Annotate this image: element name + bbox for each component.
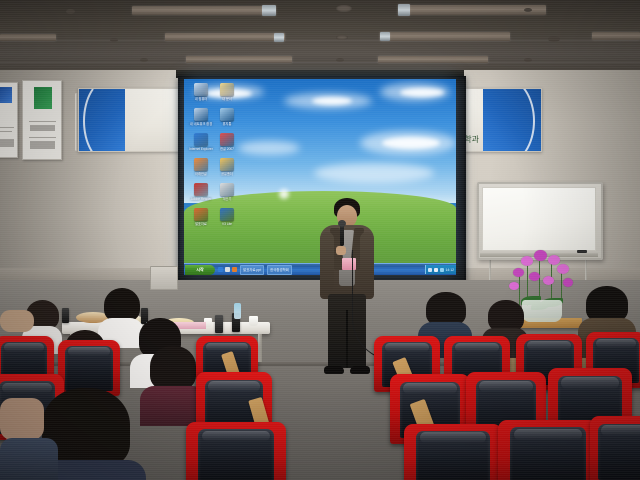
presenter-leg-gap xyxy=(346,310,348,368)
drink-can xyxy=(215,315,223,333)
desktop-icon-label: 계산기 xyxy=(214,197,240,201)
auditorium-seat xyxy=(498,420,598,480)
whiteboard xyxy=(477,182,603,260)
table-leg xyxy=(258,334,262,362)
tray-antivirus-icon[interactable] xyxy=(440,268,444,272)
desktop-icon-label: 아래한글 xyxy=(188,172,214,176)
ceiling-vent xyxy=(336,5,352,12)
desktop-icon-antivirus-icon[interactable]: V3 Lite xyxy=(214,208,240,226)
ceiling-light xyxy=(165,33,285,41)
doc-icon xyxy=(194,158,208,171)
ceiling-speaker-icon xyxy=(524,58,532,62)
calculator-icon xyxy=(220,183,234,196)
ceiling-speaker-icon xyxy=(140,58,148,62)
recycle-bin-icon xyxy=(220,108,234,121)
folder-icon xyxy=(220,83,234,96)
ceiling xyxy=(0,0,640,72)
start-button[interactable]: 시작 xyxy=(185,265,215,275)
poster-logo-icon xyxy=(0,87,12,103)
orchid-bloom xyxy=(521,256,533,266)
ppt-icon xyxy=(194,208,208,221)
wall-poster-left xyxy=(0,82,18,158)
ceiling-speaker-icon xyxy=(548,36,560,42)
ie-quicklaunch-icon[interactable] xyxy=(218,267,223,272)
desktop-icon-label: 내 컴퓨터 xyxy=(188,97,214,101)
ceiling-speaker-icon xyxy=(336,58,344,62)
desktop-icon-label: 내 네트워크 환경 xyxy=(188,122,214,126)
drink-can xyxy=(62,308,69,323)
ceiling-light xyxy=(380,32,510,41)
taskbar-button[interactable]: 발표자료.ppt xyxy=(240,265,264,275)
whiteboard-surface xyxy=(482,187,596,251)
orchid-bloom xyxy=(534,250,547,261)
tray-clock: 14:12 xyxy=(446,268,455,272)
presenter-hand xyxy=(336,246,346,255)
ceiling-light xyxy=(592,32,640,40)
ie-icon xyxy=(194,133,208,146)
ceiling-speaker-icon xyxy=(110,38,118,42)
orchid-bloom xyxy=(513,268,524,277)
auditorium-seat xyxy=(404,424,502,480)
orchid-bloom xyxy=(557,264,569,274)
shared-folder-icon xyxy=(220,158,234,171)
ceiling-light xyxy=(380,32,390,41)
ceiling-light xyxy=(398,4,410,16)
desktop-icon-label: 공유폴더 xyxy=(214,172,240,176)
desktop-icon-label: V3 Lite xyxy=(214,222,240,226)
ceiling-light xyxy=(186,56,292,63)
wall-poster-right xyxy=(22,80,62,160)
water-bottle xyxy=(234,303,241,319)
desktop-icon-computer-icon[interactable]: 내 컴퓨터 xyxy=(188,83,214,101)
projector-glare xyxy=(279,189,289,199)
desktop-icon-label: 발표자료 xyxy=(188,222,214,226)
system-tray[interactable]: 14:12 xyxy=(425,265,457,274)
orchid-bloom xyxy=(548,255,560,265)
wall-speaker xyxy=(150,266,178,290)
desktop-icon-calculator-icon[interactable]: 계산기 xyxy=(214,183,240,201)
auditorium-seat xyxy=(186,422,286,480)
ceiling-light xyxy=(274,33,284,42)
desktop-icon-ie-icon[interactable]: Internet Explorer xyxy=(188,133,214,151)
microphone-head-icon xyxy=(338,220,346,227)
orchid-bloom xyxy=(509,282,519,290)
orchid-bloom xyxy=(563,278,573,287)
desktop-icon-pdf-icon[interactable]: Adobe Reader xyxy=(188,183,214,201)
orchid-bloom xyxy=(529,272,540,281)
ceiling-speaker-icon xyxy=(524,8,532,12)
orchid-pot xyxy=(522,300,562,322)
desktop-icon-ppt-icon[interactable]: 발표자료 xyxy=(188,208,214,226)
desktop-icon-label: 내 문서 xyxy=(214,97,240,101)
quick-launch-bar[interactable] xyxy=(218,267,237,272)
desktop-icon-label: 휴지통 xyxy=(214,122,240,126)
ceiling-light xyxy=(0,34,56,41)
desktop-quicklaunch-icon[interactable] xyxy=(225,267,230,272)
photo-scene: 대구대학교 발표회 대구 발표회 일시 : 2009. 11. 20(금) 대구… xyxy=(0,0,640,480)
ceiling-speaker-icon xyxy=(66,9,75,14)
pdf-icon xyxy=(194,183,208,196)
desktop-icon-folder-icon[interactable]: 내 문서 xyxy=(214,83,240,101)
taskbar-button[interactable]: 한국환경학회 xyxy=(267,265,292,275)
ceiling-light xyxy=(262,5,276,16)
paper-cup xyxy=(249,316,258,326)
auditorium-seat xyxy=(590,416,640,480)
desktop-icon-recycle-bin-icon[interactable]: 휴지통 xyxy=(214,108,240,126)
tray-volume-icon[interactable] xyxy=(434,268,438,272)
tray-network-icon[interactable] xyxy=(428,268,432,272)
desktop-icon-hangul-icon[interactable]: 한글 2007 xyxy=(214,133,240,151)
ceiling-vent xyxy=(336,35,348,40)
antivirus-icon xyxy=(220,208,234,221)
ceiling-light xyxy=(132,6,276,15)
poster-logo-icon xyxy=(34,87,52,109)
desktop-icon-shared-folder-icon[interactable]: 공유폴더 xyxy=(214,158,240,176)
network-icon xyxy=(194,108,208,121)
presenter-shoe xyxy=(324,366,344,374)
desktop-icon-network-icon[interactable]: 내 네트워크 환경 xyxy=(188,108,214,126)
audience-member xyxy=(0,398,58,480)
desktop-icon-label: Adobe Reader xyxy=(188,197,214,201)
presenter-shoe xyxy=(350,366,370,374)
desktop-icon-doc-icon[interactable]: 아래한글 xyxy=(188,158,214,176)
desktop-icon-label: 한글 2007 xyxy=(214,147,240,151)
hangul-icon xyxy=(220,133,234,146)
computer-icon xyxy=(194,83,208,96)
desktop-icon-label: Internet Explorer xyxy=(188,147,214,151)
orchid-bloom xyxy=(543,276,554,285)
presenter-arm-left xyxy=(320,232,334,292)
ceiling-light xyxy=(378,56,488,63)
taskbar-window-buttons[interactable]: 발표자료.ppt한국환경학회 xyxy=(237,265,292,275)
microphone xyxy=(340,224,344,246)
